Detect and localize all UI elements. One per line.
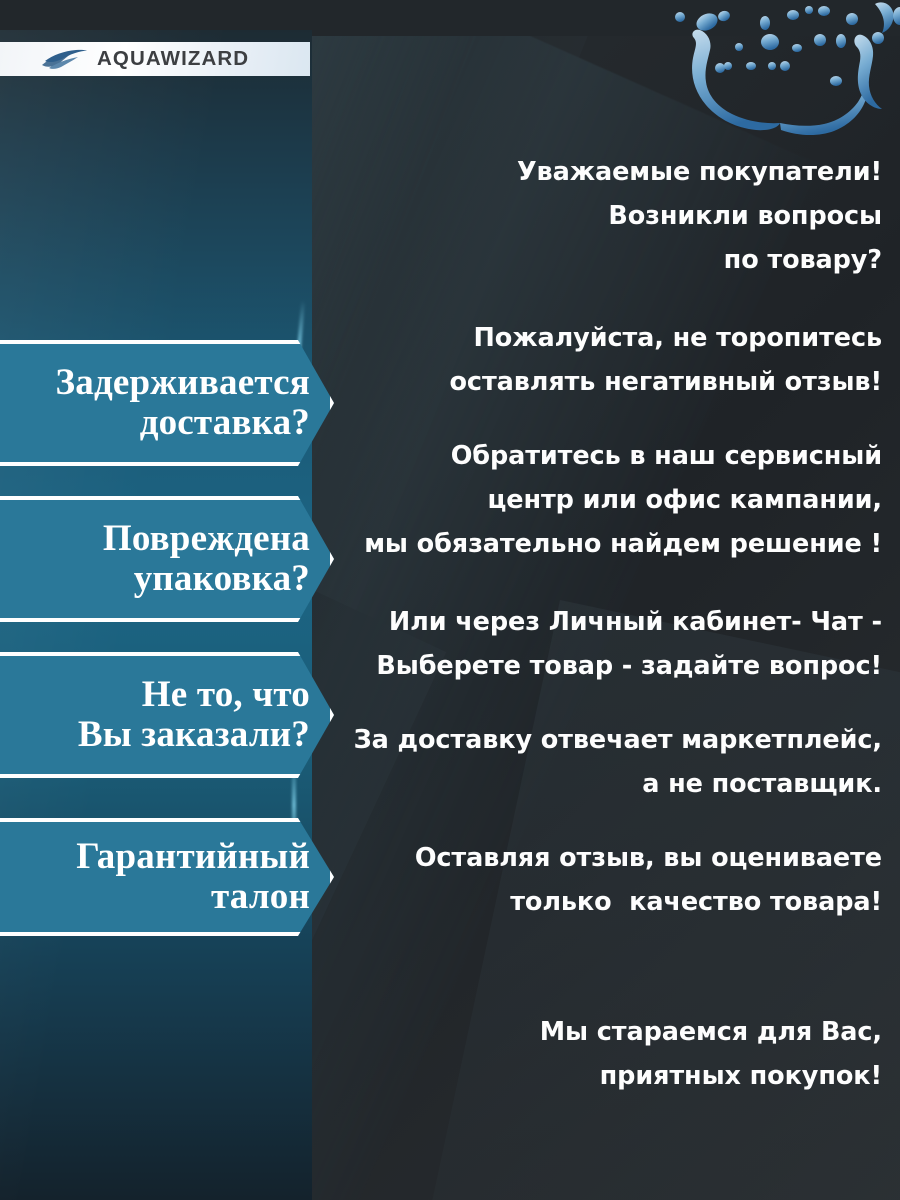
message-line: центр или офис кампании, — [330, 478, 882, 522]
water-wave-icon — [40, 48, 88, 70]
banner-line-2: доставка? — [0, 403, 310, 443]
message-review-quality-only: Оставляя отзыв, вы оцениваете только кач… — [330, 836, 882, 924]
banner-line-2: талон — [0, 877, 310, 917]
banner-line-2: упаковка? — [0, 559, 310, 599]
banner-line-2: Вы заказали? — [0, 715, 310, 755]
message-no-negative-review: Пожалуйста, не торопитесь оставлять нега… — [330, 316, 882, 404]
message-line: Оставляя отзыв, вы оцениваете — [330, 836, 882, 880]
message-contact-service: Обратитесь в наш сервисный центр или офи… — [330, 434, 882, 566]
message-line: только качество товара! — [330, 880, 882, 924]
brand-logo: AQUAWIZARD — [0, 42, 310, 76]
banner-wrong-item[interactable]: Не то, что Вы заказали? — [0, 652, 334, 778]
message-line: Мы стараемся для Вас, — [330, 1010, 882, 1054]
banner-delivery-delayed-text: Задерживается доставка? — [0, 363, 322, 443]
message-line: по товару? — [330, 238, 882, 282]
banner-line-1: Не то, что — [0, 675, 310, 715]
message-line: Или через Личный кабинет- Чат - — [330, 600, 882, 644]
message-column: Уважаемые покупатели! Возникли вопросы п… — [330, 150, 882, 1132]
message-spacer — [330, 958, 882, 1010]
banner-delivery-delayed[interactable]: Задерживается доставка? — [0, 340, 334, 466]
message-line: оставлять негативный отзыв! — [330, 360, 882, 404]
message-line: Обратитесь в наш сервисный — [330, 434, 882, 478]
message-line: За доставку отвечает маркетплейс, — [330, 718, 882, 762]
water-splash-icon — [660, 0, 900, 151]
banner-damaged-package-text: Повреждена упаковка? — [0, 519, 324, 599]
banner-warranty-card-text: Гарантийный талон — [0, 837, 324, 917]
banner-line-1: Гарантийный — [0, 837, 310, 877]
message-marketplace-responsibility: За доставку отвечает маркетплейс, а не п… — [330, 718, 882, 806]
banner-line-1: Задерживается — [0, 363, 310, 403]
message-line: Выберете товар - задайте вопрос! — [330, 644, 882, 688]
message-line: приятных покупок! — [330, 1054, 882, 1098]
message-line: Возникли вопросы — [330, 194, 882, 238]
banner-damaged-package[interactable]: Повреждена упаковка? — [0, 496, 334, 622]
message-line: Пожалуйста, не торопитесь — [330, 316, 882, 360]
banner-line-1: Повреждена — [0, 519, 310, 559]
banner-warranty-card[interactable]: Гарантийный талон — [0, 818, 334, 936]
banner-wrong-item-text: Не то, что Вы заказали? — [0, 675, 324, 755]
message-closing: Мы стараемся для Вас, приятных покупок! — [330, 1010, 882, 1098]
promo-infographic-page: AQUAWIZARD Задерживается доставка? Повре… — [0, 0, 900, 1200]
message-personal-account-chat: Или через Личный кабинет- Чат - Выберете… — [330, 600, 882, 688]
message-greeting: Уважаемые покупатели! Возникли вопросы п… — [330, 150, 882, 282]
brand-logo-text: AQUAWIZARD — [97, 47, 249, 71]
message-line: Уважаемые покупатели! — [330, 150, 882, 194]
message-line: мы обязательно найдем решение ! — [330, 522, 882, 566]
message-line: а не поставщик. — [330, 762, 882, 806]
